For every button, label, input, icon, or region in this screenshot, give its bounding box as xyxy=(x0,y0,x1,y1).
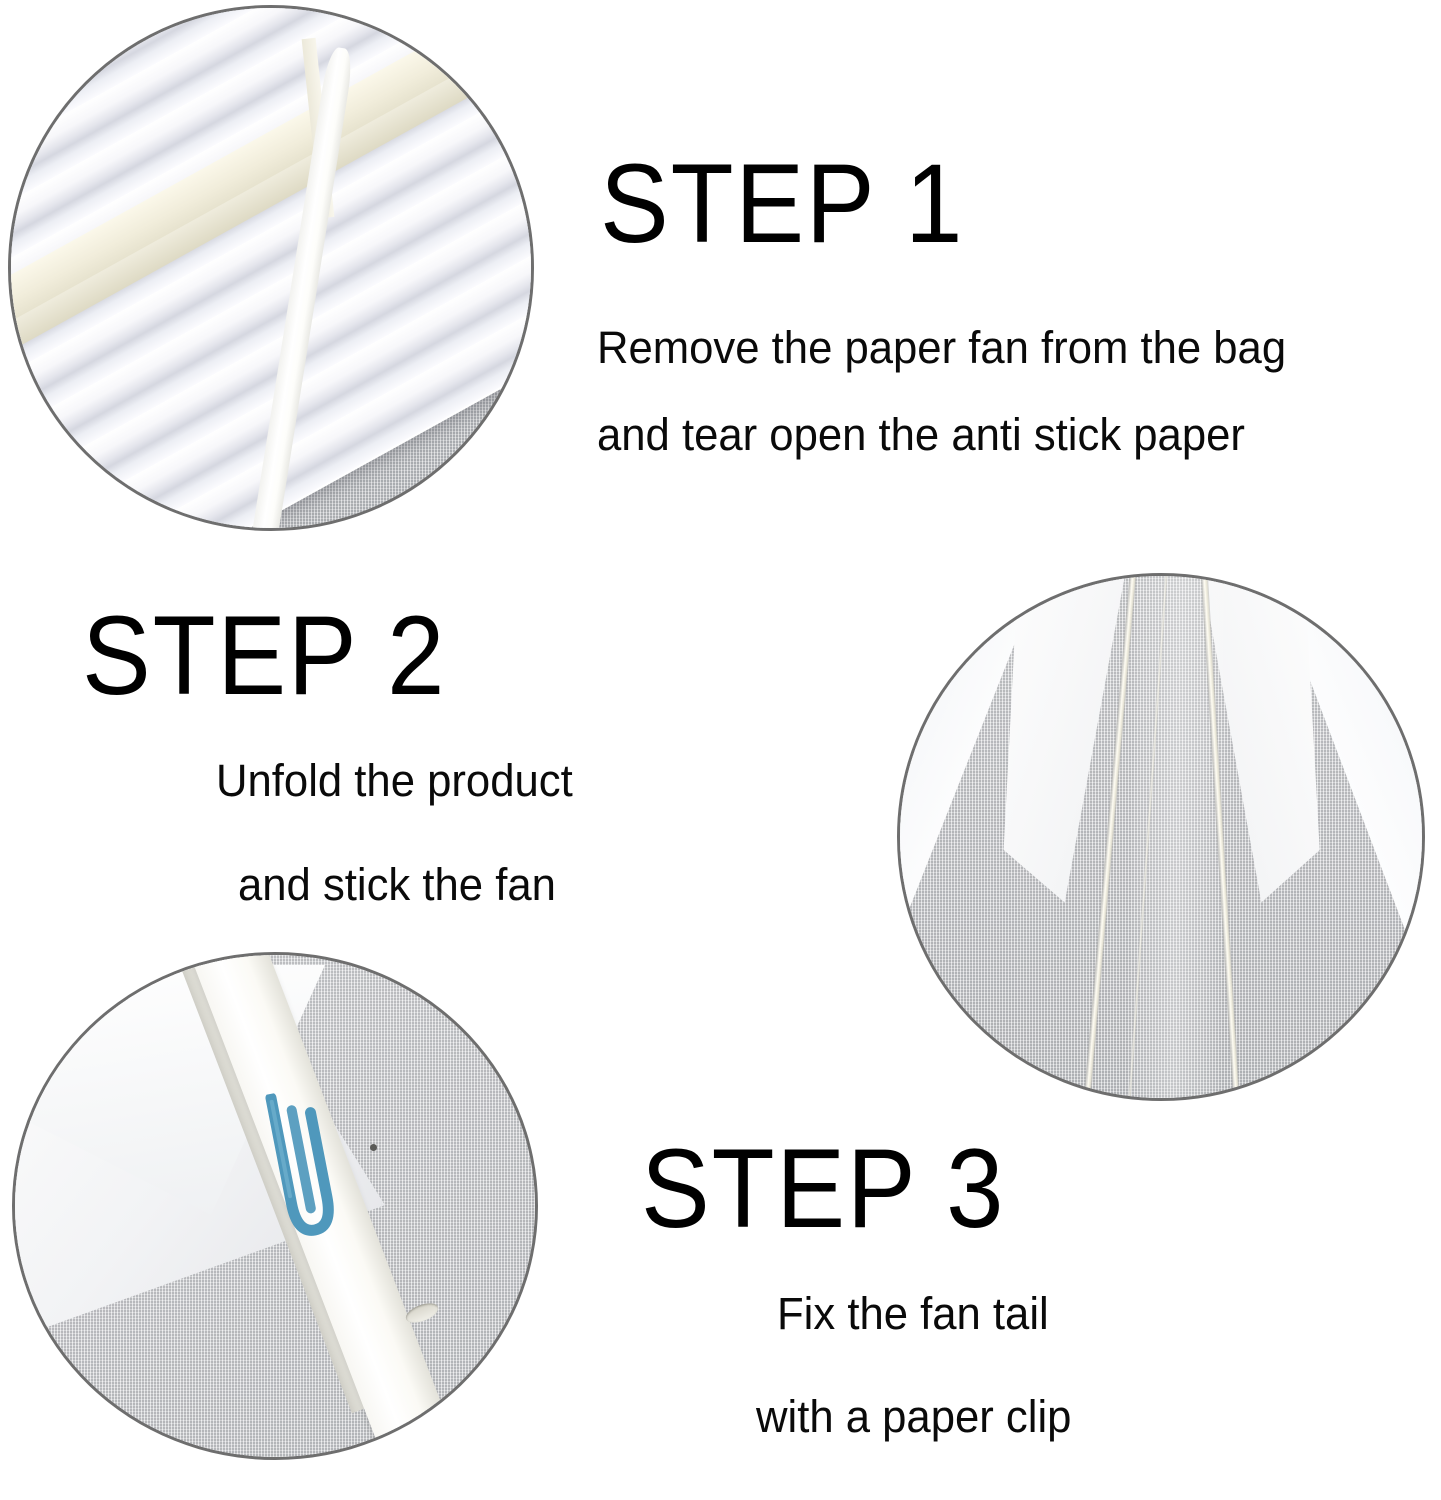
step-3-description-line-1: Fix the fan tail xyxy=(777,1291,1049,1336)
instruction-infographic: STEP 1 Remove the paper fan from the bag… xyxy=(0,0,1441,1500)
step-3-description-line-2: with a paper clip xyxy=(756,1394,1071,1439)
step-2-description-line-1: Unfold the product xyxy=(216,758,573,803)
step-3-heading: STEP 3 xyxy=(641,1133,1005,1245)
photo-2-highlight xyxy=(1127,573,1229,1101)
step-1-heading: STEP 1 xyxy=(600,148,964,260)
photo-step-1 xyxy=(8,5,534,531)
step-2-heading: STEP 2 xyxy=(82,600,446,712)
step-2-description-line-2: and stick the fan xyxy=(238,862,556,907)
step-1-description-line-2: and tear open the anti stick paper xyxy=(597,412,1245,457)
photo-step-2 xyxy=(897,573,1425,1101)
photo-3-pin-dot xyxy=(370,1144,377,1151)
step-1-description-line-1: Remove the paper fan from the bag xyxy=(597,325,1286,370)
